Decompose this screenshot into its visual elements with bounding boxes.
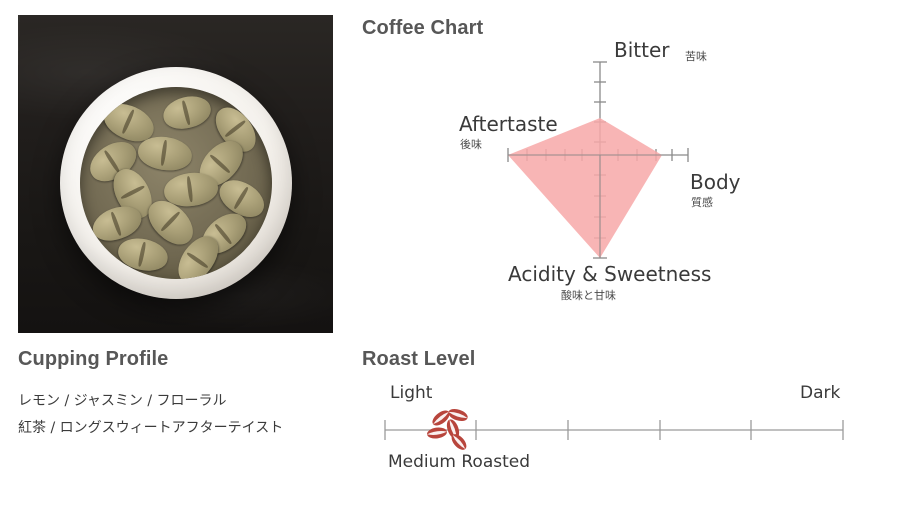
radar-label-bitter-jp: 苦味	[685, 48, 707, 64]
radar-data-polygon	[508, 118, 662, 258]
radar-label-acidity-jp: 酸味と甘味	[561, 287, 616, 303]
cupping-profile-title: Cupping Profile	[18, 348, 168, 371]
radar-label-bitter-en: Bitter	[614, 38, 670, 62]
radar-label-body-jp: 質感	[691, 194, 713, 210]
coffee-bean-cluster-icon	[423, 404, 477, 456]
bowl-interior	[80, 87, 272, 279]
radar-label-aftertaste-en: Aftertaste	[459, 112, 558, 136]
cupping-note-line: 紅茶 / ロングスウィートアフターテイスト	[18, 417, 283, 437]
roast-current-label: Medium Roasted	[388, 452, 530, 472]
coffee-bean-photo	[18, 15, 333, 333]
radar-label-acidity-en: Acidity & Sweetness	[508, 262, 711, 286]
roast-level-title: Roast Level	[362, 348, 475, 371]
coffee-profile-card: Cupping Profile レモン / ジャスミン / フローラル 紅茶 /…	[0, 0, 900, 508]
radar-chart: Bitter 苦味 Body 質感 Acidity & Sweetness 酸味…	[360, 30, 820, 310]
cupping-note-line: レモン / ジャスミン / フローラル	[18, 390, 227, 410]
radar-label-body-en: Body	[690, 170, 741, 194]
radar-label-aftertaste-jp: 後味	[460, 136, 482, 152]
roast-level-scale: Light Dark	[360, 380, 860, 490]
bean-cluster-svg	[423, 404, 477, 456]
